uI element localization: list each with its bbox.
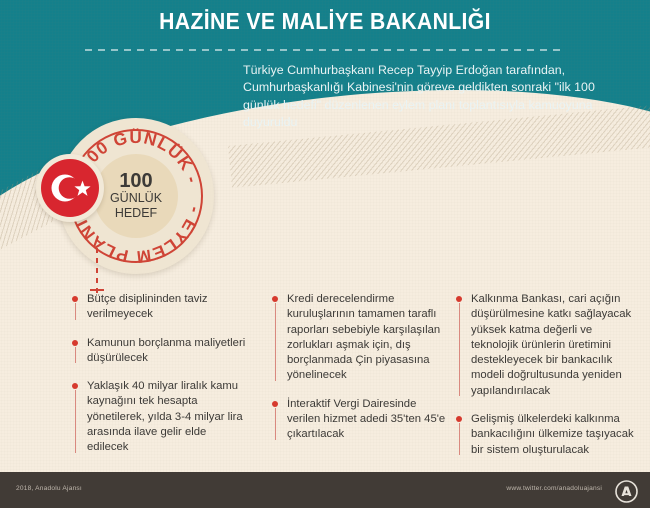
column-3: Kalkınma Bankası, cari açığın düşürülmes… xyxy=(456,292,641,458)
bullet-columns: Bütçe disiplininden taviz verilmeyecek K… xyxy=(0,292,650,462)
footer-twitter-link[interactable]: www.twitter.com/anadoluajansi xyxy=(506,485,602,492)
badge-number: 100 xyxy=(119,171,152,191)
bullet-stem xyxy=(75,347,76,364)
bullet-text: Yaklaşık 40 milyar liralık kamu kaynağın… xyxy=(87,379,247,455)
bullet-text: İnteraktif Vergi Dairesinde verilen hizm… xyxy=(287,397,447,443)
bullet-stem xyxy=(459,423,460,455)
list-item: Yaklaşık 40 milyar liralık kamu kaynağın… xyxy=(72,379,247,455)
list-item: Kamunun borçlanma maliyetleri düşürülece… xyxy=(72,336,247,367)
bullet-dot-icon xyxy=(456,296,462,302)
page-title: HAZİNE VE MALİYE BAKANLIĞI xyxy=(26,8,624,35)
bullet-text: Kredi derecelendirme kuruluşlarının tama… xyxy=(287,292,447,384)
badge-core: 100 GÜNLÜK HEDEF xyxy=(94,154,178,238)
bullet-text: Bütçe disiplininden taviz verilmeyecek xyxy=(87,292,247,323)
hundred-day-badge: - 100 GÜNLÜK - - EYLEM PLANI - 100 GÜNLÜ… xyxy=(58,118,218,278)
bullet-dot-icon xyxy=(272,401,278,407)
intro-paragraph: Türkiye Cumhurbaşkanı Recep Tayyip Erdoğ… xyxy=(243,62,595,131)
list-item: İnteraktif Vergi Dairesinde verilen hizm… xyxy=(272,397,447,443)
aa-logo-icon xyxy=(615,480,638,503)
flag-red-field xyxy=(41,159,99,217)
badge-connector-line xyxy=(96,248,98,293)
list-item: Kredi derecelendirme kuruluşlarının tama… xyxy=(272,292,447,384)
bullet-text: Gelişmiş ülkelerdeki kalkınma bankacılığ… xyxy=(471,412,641,458)
badge-connector-cap xyxy=(90,289,104,291)
list-item: Gelişmiş ülkelerdeki kalkınma bankacılığ… xyxy=(456,412,641,458)
header-dashed-rule xyxy=(85,49,565,51)
crescent-star-icon xyxy=(41,159,99,217)
bullet-text: Kalkınma Bankası, cari açığın düşürülmes… xyxy=(471,292,641,399)
bullet-stem xyxy=(275,303,276,381)
list-item: Kalkınma Bankası, cari açığın düşürülmes… xyxy=(456,292,641,399)
badge-line-1: GÜNLÜK xyxy=(110,191,162,206)
bullet-dot-icon xyxy=(72,340,78,346)
bullet-stem xyxy=(275,408,276,440)
bullet-dot-icon xyxy=(272,296,278,302)
infographic-canvas: HAZİNE VE MALİYE BAKANLIĞI Türkiye Cumhu… xyxy=(0,0,650,508)
bullet-stem xyxy=(75,390,76,452)
bullet-stem xyxy=(459,303,460,396)
footer-copyright: 2018, Anadolu Ajansı xyxy=(16,485,82,492)
bullet-dot-icon xyxy=(456,416,462,422)
footer-bar: 2018, Anadolu Ajansı www.twitter.com/ana… xyxy=(0,472,650,508)
list-item: Bütçe disiplininden taviz verilmeyecek xyxy=(72,292,247,323)
badge-line-2: HEDEF xyxy=(115,206,157,221)
column-1: Bütçe disiplininden taviz verilmeyecek K… xyxy=(72,292,247,456)
bullet-stem xyxy=(75,303,76,320)
turkish-flag-icon xyxy=(36,154,104,222)
bullet-text: Kamunun borçlanma maliyetleri düşürülece… xyxy=(87,336,247,367)
bullet-dot-icon xyxy=(72,296,78,302)
column-2: Kredi derecelendirme kuruluşlarının tama… xyxy=(272,292,447,443)
bullet-dot-icon xyxy=(72,383,78,389)
